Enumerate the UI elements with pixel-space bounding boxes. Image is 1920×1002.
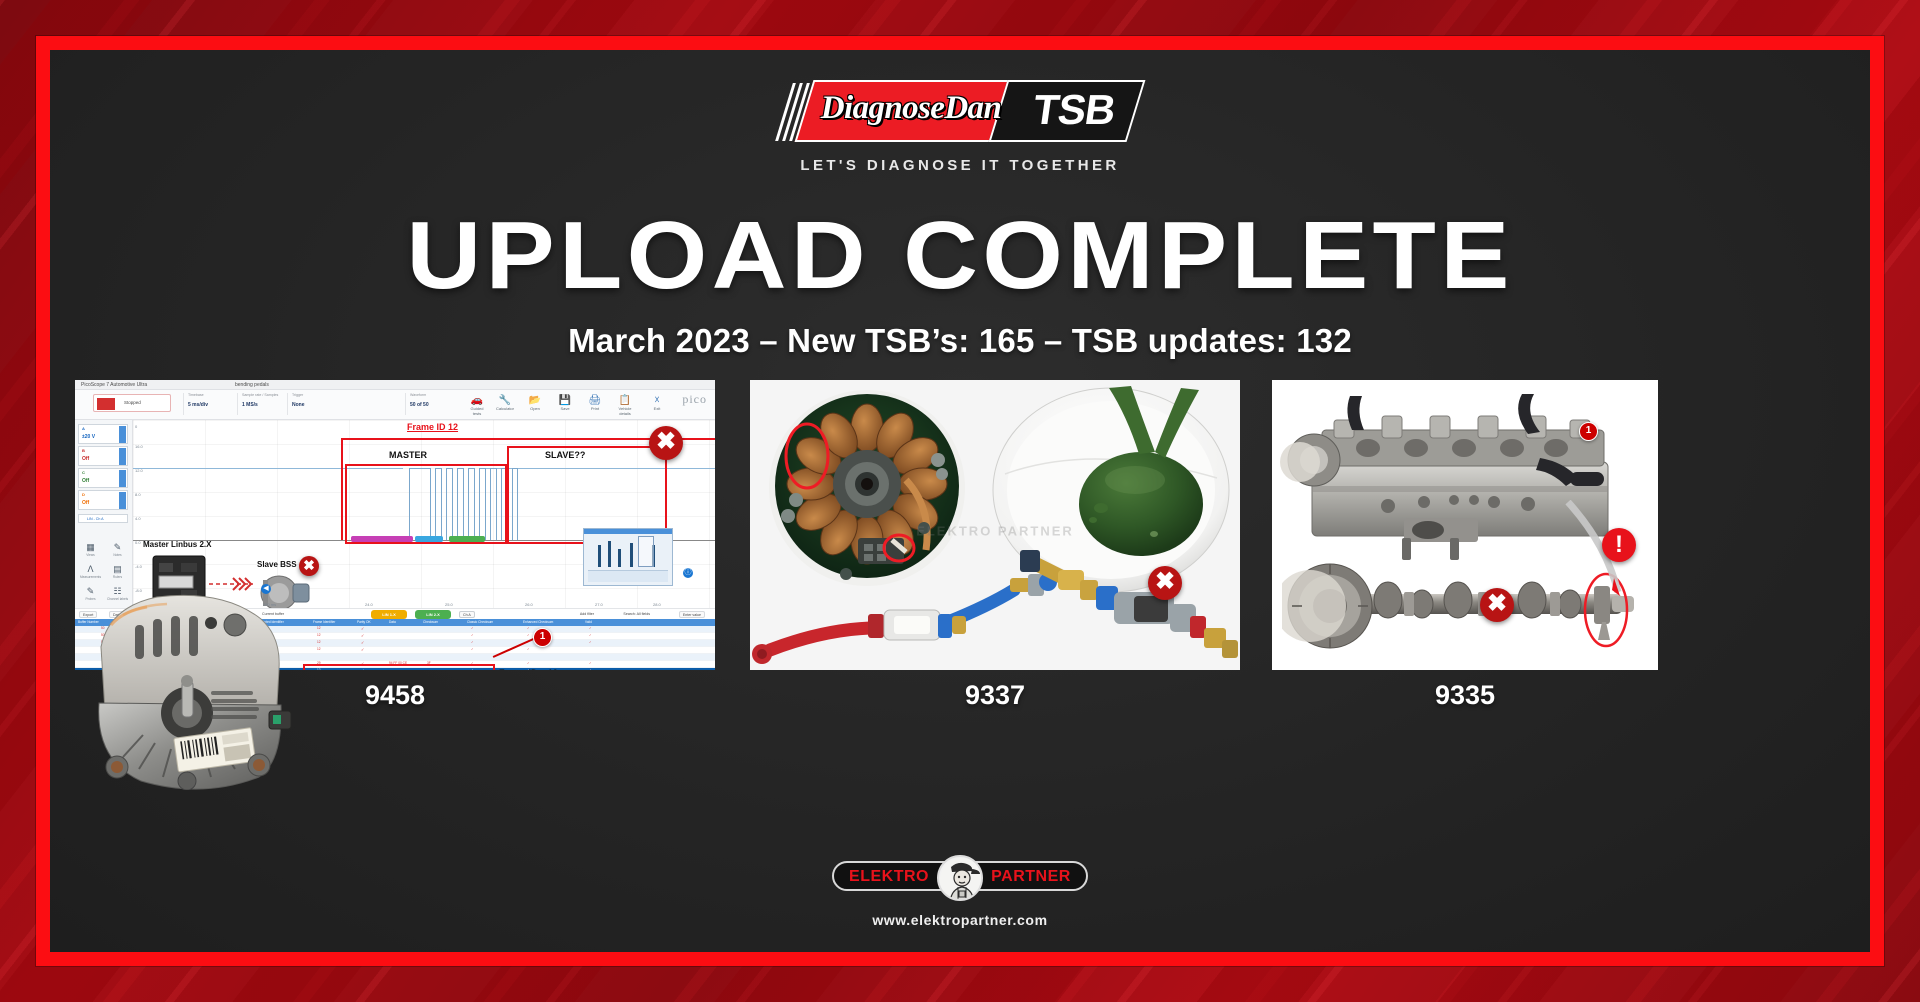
table-row[interactable]: 50 1 364 ms 30.84 ms 4555 µs 95 92 12 ✓ … [75,633,715,640]
probe-icon[interactable]: ✎Probes [77,586,104,608]
x-tick-1: 24.0 [365,602,373,607]
mechanic-mascot-icon [937,855,983,901]
error-x-icon: ✖ [299,556,319,576]
master-module-icon [151,554,211,616]
col-valid[interactable]: Valid [585,620,592,624]
col-sync-scan[interactable]: Sync Scan [227,620,242,624]
cell-buffer: 50 [101,654,105,658]
data-to-text-button[interactable]: Data to text [109,611,135,618]
cell-pid: 39 [261,661,265,665]
logo-secondary-text: TSB [1011,86,1138,134]
cell-pid: 92 [261,654,265,658]
pen-icon[interactable]: ✎Notes [104,542,131,564]
guided-tests-label: Guided tests [471,406,484,416]
search-field-select[interactable]: Search: All fields [620,611,653,618]
panel-9337-image: ELEKTRO PARTNER [750,380,1240,670]
diagnosedan-tsb-logo: DiagnoseDan TSB [782,78,1138,144]
panel-9335-image: 1 ! ✖ [1272,380,1658,670]
channel-a-range: ±20 V [82,434,95,440]
table-row[interactable]: 50 92 12 ✓ ✓ ✓ [75,647,715,654]
cell-echk: ✓ [527,626,530,630]
add-filter-button[interactable]: Add filter [577,611,597,618]
panel-9458-image: PicoScope 7 Automotive Ultra bending ped… [75,380,715,670]
save-icon[interactable]: 💾Save [555,395,575,411]
y-tick-8: 8.0 [135,492,141,497]
overview-bar [630,543,633,567]
rulers-label: Rulers [104,575,131,579]
slave-device-label: Slave BSS [257,560,297,569]
panel-caption-9335: 9335 [1272,680,1658,711]
compressor-stator-photo [760,388,975,588]
warning-bang-icon: ! [1602,528,1636,562]
scope-trigger-group[interactable]: Trigger None [287,393,397,415]
y-tick-m4: -4.0 [135,564,142,569]
cell-packet: 1 [121,633,123,637]
channel-select[interactable]: Ch A [459,611,475,618]
scope-timebase-group[interactable]: Timebase 5 ms/div [183,393,235,415]
table-icon[interactable]: ▤Rulers [104,564,131,586]
cell-parity: ✓ [361,640,364,645]
y-tick-m8: -8.0 [135,588,142,593]
stop-square-icon [97,398,115,410]
cell-cchk: ✓ [471,626,474,630]
frame-id-equals-label: Frame ID = 12 [499,668,558,670]
cell-valid: ✓ [589,661,592,665]
cell-buffer: 50 [101,626,105,630]
overview-bar [608,541,611,567]
content-stage: DiagnoseDan TSB LET'S DIAGNOSE IT TOGETH… [50,50,1870,952]
cell-break: 87 + [205,640,211,644]
channel-d-range: Off [82,500,89,506]
tsb-panel-9337[interactable]: ELEKTRO PARTNER [750,380,1240,670]
callout-1-badge: 1 [1579,422,1598,441]
scope-stop-label: Stopped [124,400,141,405]
table-row[interactable]: 50 92 [75,654,715,661]
channel-d-stepper[interactable] [119,492,126,509]
cell-sync: 95 [231,633,235,637]
channel-a-stepper[interactable] [119,426,126,443]
channel-c-range: Off [82,478,89,484]
master-device-label: Master Linbus 2.X [143,540,211,549]
search-input[interactable]: Enter value [679,611,705,618]
cell-cchk: ✓ [471,640,474,644]
cell-break: 4555 µs [205,626,216,630]
cell-parity: ✓ [361,626,364,631]
x-tick-4: 27.0 [595,602,603,607]
cell-start: 364 ms [141,633,151,637]
channel-a-name: A [82,426,85,431]
picoscope-plot-area[interactable]: 0 16.0 12.0 8.0 4.0 0.0 -4.0 -8.0 -12.0 … [133,420,715,608]
printer-icon[interactable]: 🖨Print [585,395,605,411]
channel-c-stepper[interactable] [119,470,126,487]
channel-c-name: C [82,470,85,475]
y-tick-4: 4.0 [135,516,141,521]
scope-samplerate-group[interactable]: Sample rate / Samples 1 MS/s [237,393,281,415]
grid-icon[interactable]: ▦Views [77,542,104,564]
folder-open-icon[interactable]: 📂Open [525,395,545,411]
scope-waveform-group[interactable]: Waveform 50 of 50 [405,393,459,415]
cell-buffer: 50 [101,633,105,637]
page-title: UPLOAD COMPLETE [50,208,1870,304]
cell-end: 187 ms [175,640,185,644]
cell-pid: 92 [261,633,265,637]
cell-packet: 1 [121,626,123,630]
master-annotation: MASTER [389,450,427,460]
channel-d-name: D [82,492,85,497]
cell-parity: ✓ [361,647,364,652]
font-smaller-button[interactable]: A⁻ [181,611,193,618]
save-label: Save [560,406,569,411]
cell-fid: 12 [317,633,321,637]
cell-valid: ✓ [589,626,592,630]
col-protected-id[interactable]: Protected Identifier [257,620,284,624]
cell-fid: 12 [317,640,321,644]
col-buffer-number[interactable]: Buffer Number [78,620,99,624]
measurements-label: Measurements [77,575,104,579]
views-label: Views [77,553,104,557]
info-icon[interactable]: ⓘ [683,568,693,578]
vehicle-details-icon[interactable]: 📋Vehicle details [615,395,635,416]
error-x-icon: ✖ [649,426,683,460]
channel-b-range: Off [82,456,89,462]
picoscope-window-title: PicoScope 7 Automotive Ultra [81,382,147,388]
zoom-overview-titlebar [584,529,672,534]
cell-break: 4555 µs [205,633,216,637]
picoscope-toolbar: Stopped Timebase 5 ms/div Sample rate / … [75,390,715,420]
picoscope-decode-table[interactable]: Export Data to text Fields A⁻ A⁺ All buf… [75,608,715,670]
cell-buffer: 50 [101,640,105,644]
cell-valid: ✓ [589,633,592,637]
cell-valid: ✓ [589,640,592,644]
tsb-panel-row: PicoScope 7 Automotive Ultra bending ped… [50,380,1870,780]
cell-start: 8.85 ms [141,626,152,630]
cell-echk: ✓ [527,661,530,665]
tsb-panel-9458[interactable]: PicoScope 7 Automotive Ultra bending ped… [75,380,715,670]
overview-controls[interactable] [588,570,668,582]
cell-echk: ✓ [527,647,530,651]
probes-label: Probes [77,597,104,601]
channel-a[interactable]: A ±20 V [78,424,128,444]
footer-block: ELEKTRO PARTNER [50,855,1870,928]
waveform-label: Waveform [410,393,459,397]
decode-table-header: Buffer Number Packet Start Time End Time… [75,619,715,626]
channel-labels-label: Channel labels [104,597,131,601]
error-x-icon: ✖ [1480,588,1514,622]
picoscope-window-subtitle: bending pedals [235,382,269,388]
cell-pid: 92 [261,626,265,630]
table-row[interactable]: 50 1 8.85 ms 187 ms 4555 µs 95 92 12 ✓ ✓ [75,626,715,633]
cell-end: 30.84 ms [175,633,188,637]
samplerate-label: Sample rate / Samples [242,393,281,397]
exit-icon[interactable]: ☓Exit [647,395,667,411]
scope-zoom-overview[interactable] [583,528,673,586]
cell-pid: 92 [261,640,265,644]
channel-icon[interactable]: ☷Channel labels [104,586,131,608]
samplerate-value: 1 MS/s [242,402,281,408]
cell-cchk: ✓ [471,633,474,637]
frame-id-annotation: Frame ID 12 [407,422,458,432]
tsb-panel-9335[interactable]: 1 ! ✖ 9335 [1272,380,1658,670]
overview-bar [598,545,601,567]
trigger-value: None [292,402,397,408]
col-break[interactable]: Break [205,620,213,624]
logo-primary-text: DiagnoseDan [816,90,1006,127]
red-frame-border: DiagnoseDan TSB LET'S DIAGNOSE IT TOGETH… [36,36,1884,966]
timebase-value: 5 ms/div [188,402,235,408]
open-label: Open [530,406,540,411]
col-end-time[interactable]: End Time [171,620,184,624]
panel-caption-9458: 9458 [75,680,715,711]
elektro-partner-logo[interactable]: ELEKTRO PARTNER [832,855,1088,901]
x-tick-2: 25.0 [445,602,453,607]
cell-pid: 92 [261,647,265,651]
export-button[interactable]: Export [79,611,97,618]
picoscope-channel-rail: A ±20 V B Off C Off [75,420,133,608]
font-larger-button[interactable]: A⁺ [199,611,211,618]
decode-table-toolbar: Export Data to text Fields A⁻ A⁺ All buf… [75,608,715,619]
cell-echk: ✓ [527,633,530,637]
cell-cchk: ✓ [471,647,474,651]
col-enhanced-chk[interactable]: Enhanced Checksum [523,620,553,624]
cell-packet: 1 [121,640,123,644]
master-box [345,464,507,544]
scope-stop-button[interactable]: Stopped [93,394,171,412]
channel-d[interactable]: D Off [78,490,128,510]
logo-tagline: LET'S DIAGNOSE IT TOGETHER [50,157,1870,174]
cell-sync: 95 [231,640,235,644]
table-row[interactable]: 50 1 8.658 ms 187 ms 87 + 95 92 12 ✓ ✓ [75,640,715,647]
channel-b-stepper[interactable] [119,448,126,465]
error-x-icon: ✖ [1148,566,1182,600]
calculator-label: Calculator [496,406,514,411]
col-parity-ok[interactable]: Parity OK [357,620,371,624]
channel-c[interactable]: C Off [78,468,128,488]
overview-bar [618,549,621,567]
wrench-icon[interactable]: 🔧Calculator [495,395,515,411]
notes-label: Notes [104,553,131,557]
trigger-label: Trigger [292,393,397,397]
cell-buffer: 50 [101,647,105,651]
col-packet[interactable]: Packet [115,620,125,624]
picoscope-titlebar: PicoScope 7 Automotive Ultra bending ped… [75,380,715,390]
col-start-time[interactable]: Start Time [137,620,152,624]
slave-annotation: SLAVE?? [545,450,585,460]
col-classic-chk[interactable]: Classic Checksum [467,620,493,624]
col-data[interactable]: Data [389,620,396,624]
waveform-value: 50 of 50 [410,402,459,408]
vehicle-details-label: Vehicle details [619,406,632,416]
channel-b[interactable]: B Off [78,446,128,466]
cell-valid: ✓ [589,668,592,670]
exit-label: Exit [654,406,661,411]
prev-buffer-icon[interactable]: ◀ [261,584,271,594]
timebase-label: Timebase [188,393,235,397]
lin-2x-pill[interactable]: LIN 2.X [415,610,451,619]
page-subtitle: March 2023 – New TSB’s: 165 – TSB update… [50,322,1870,360]
brand-logo-block: DiagnoseDan TSB LET'S DIAGNOSE IT TOGETH… [50,78,1870,174]
y-tick-16: 16.0 [135,444,143,449]
print-label: Print [591,406,599,411]
overview-viewport[interactable] [638,536,654,567]
channel-footer-row[interactable]: LIN - Ch A [78,514,128,523]
frame-id-table-box [303,664,495,670]
channel-b-name: B [82,448,85,453]
y-tick-0: 0 [135,424,137,429]
cell-parity: ✓ [361,633,364,638]
cell-end: 187 ms [175,626,185,630]
footer-url: www.elektropartner.com [50,912,1870,928]
pico-brand-mark: pico [682,392,707,407]
fields-button[interactable]: Fields [151,611,169,618]
panel-caption-9337: 9337 [750,680,1240,711]
x-tick-3: 26.0 [525,602,533,607]
col-checksum[interactable]: Checksum [423,620,438,624]
x-tick-5: 28.0 [653,602,661,607]
vehicle-icon[interactable]: 🚗Guided tests [467,395,487,416]
coupler-tool-photo [1014,548,1240,668]
col-frame-id[interactable]: Frame Identifier [313,620,335,624]
x-tick-0: 250 ms [263,602,276,607]
signal-arrow-icon [209,576,257,592]
measure-icon[interactable]: ΛMeasurements [77,564,104,586]
lin-1x-pill[interactable]: LIN 1.X [371,610,407,619]
cell-start: 8.658 ms [141,640,154,644]
cell-sync: 95 [231,626,235,630]
callout-1-badge: 1 [533,628,552,647]
picoscope-window: PicoScope 7 Automotive Ultra bending ped… [75,380,715,670]
all-buffers-button[interactable]: All buffers [219,611,243,618]
cell-fid: 12 [317,626,321,630]
cell-fid: 12 [317,647,321,651]
watermark-text: ELEKTRO PARTNER [916,523,1074,538]
current-buffer-button[interactable]: Current buffer [259,611,287,618]
